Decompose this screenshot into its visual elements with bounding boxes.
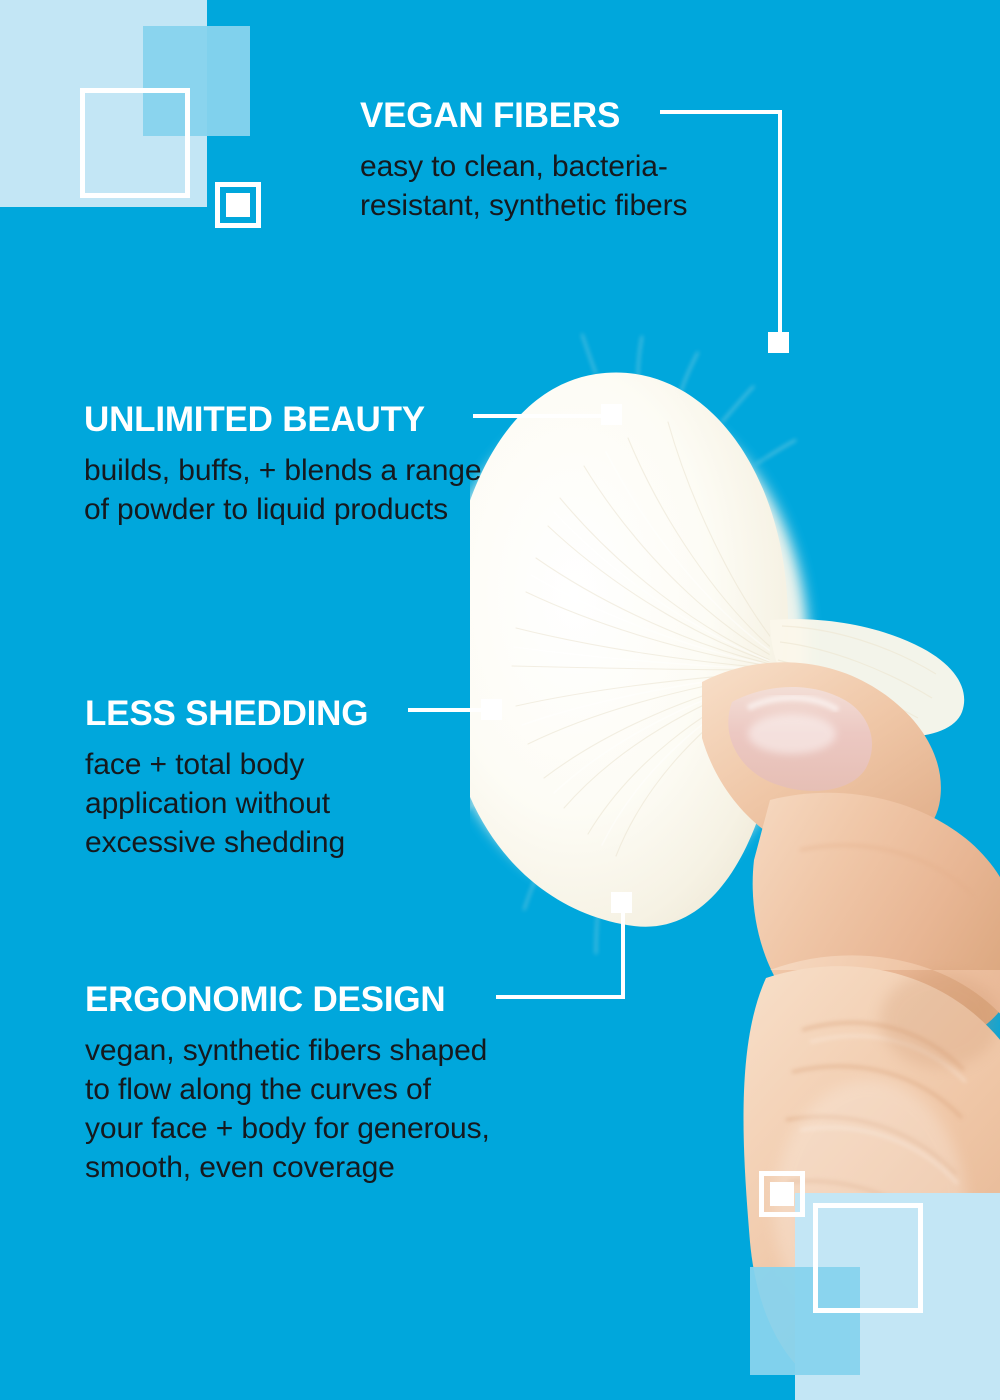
callout-ergonomic-design: ERGONOMIC DESIGN vegan, synthetic fibers…: [85, 982, 490, 1187]
decorative-square-outline-bottom-right: [813, 1203, 923, 1313]
leader-marker-less-shedding: [481, 699, 502, 720]
callout-title-vegan-fibers: VEGAN FIBERS: [360, 98, 687, 133]
leader-line-vegan-fibers-vertical: [778, 110, 782, 335]
leader-marker-ergonomic-design: [611, 892, 632, 913]
leader-line-unlimited-beauty: [473, 414, 608, 418]
decorative-square-outline-top-left: [80, 88, 190, 198]
product-infographic-poster: VEGAN FIBERS easy to clean, bacteria-res…: [0, 0, 1000, 1400]
leader-marker-vegan-fibers: [768, 332, 789, 353]
callout-less-shedding: LESS SHEDDING face + total bodyapplicati…: [85, 696, 368, 862]
callout-body-ergonomic-design: vegan, synthetic fibers shapedto flow al…: [85, 1031, 490, 1187]
callout-body-less-shedding: face + total bodyapplication withoutexce…: [85, 745, 368, 862]
callout-title-less-shedding: LESS SHEDDING: [85, 696, 368, 731]
decorative-badge-fill-top-left: [226, 193, 250, 217]
leader-marker-unlimited-beauty: [601, 404, 622, 425]
callout-vegan-fibers: VEGAN FIBERS easy to clean, bacteria-res…: [360, 98, 687, 225]
decorative-badge-fill-bottom-right: [770, 1182, 794, 1206]
callout-title-ergonomic-design: ERGONOMIC DESIGN: [85, 982, 490, 1017]
leader-line-less-shedding: [408, 708, 490, 712]
callout-body-vegan-fibers: easy to clean, bacteria-resistant, synth…: [360, 147, 687, 225]
callout-body-unlimited-beauty: builds, buffs, + blends a rangeof powder…: [84, 451, 481, 529]
leader-line-ergonomic-design-horizontal: [496, 995, 625, 999]
callout-unlimited-beauty: UNLIMITED BEAUTY builds, buffs, + blends…: [84, 402, 481, 529]
callout-title-unlimited-beauty: UNLIMITED BEAUTY: [84, 402, 481, 437]
